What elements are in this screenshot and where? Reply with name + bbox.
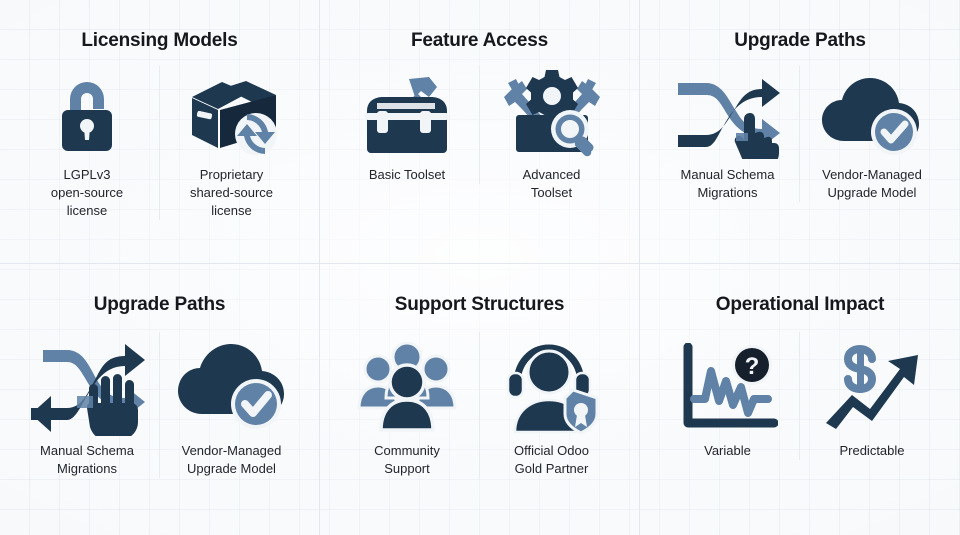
item-proprietary[interactable]: Proprietaryshared-sourcelicense [160,66,304,220]
panel-items: Manual SchemaMigrations Vendor-ManagedUp… [640,66,960,263]
item-lgplv3[interactable]: LGPLv3open-sourcelicense [16,66,160,220]
svg-text:?: ? [744,353,759,380]
panel-licensing-models: Licensing Models LGPLv3open-sourcelicens… [0,0,320,264]
cloud-check-icon [176,332,288,442]
panel-title: Operational Impact [716,294,885,316]
item-caption: CommunitySupport [374,442,440,478]
item-vendor-managed-upgrade[interactable]: Vendor-ManagedUpgrade Model [800,66,944,202]
item-manual-schema-migrations[interactable]: Manual SchemaMigrations [656,66,800,202]
shuffle-arrows-hand-icon [676,66,780,166]
item-caption: Proprietaryshared-sourcelicense [190,166,273,220]
item-basic-toolset[interactable]: Basic Toolset [336,66,480,184]
panel-support-structures: Support Structures [320,264,640,535]
panel-items: LGPLv3open-sourcelicense [0,66,319,263]
item-caption: Predictable [839,442,904,460]
item-advanced-toolset[interactable]: AdvancedToolset [480,66,624,202]
panel-title: Upgrade Paths [734,30,866,52]
item-caption: LGPLv3open-sourcelicense [51,166,123,220]
item-community-support[interactable]: CommunitySupport [336,332,480,478]
dollar-growth-arrow-icon [822,332,922,442]
panel-feature-access: Feature Access [320,0,640,264]
panel-title: Licensing Models [81,30,237,52]
toolbox-hammer-icon [357,66,457,166]
panel-title: Feature Access [411,30,548,52]
item-predictable[interactable]: Predictable [800,332,944,460]
panel-title: Upgrade Paths [94,294,226,316]
volatile-chart-question-icon: ? [678,332,778,442]
item-caption: Vendor-ManagedUpgrade Model [822,166,922,202]
panel-items: CommunitySupport [320,332,639,535]
item-caption: AdvancedToolset [523,166,581,202]
open-padlock-icon [52,66,122,166]
item-caption: Manual SchemaMigrations [40,442,134,478]
item-caption: Basic Toolset [369,166,445,184]
item-variable[interactable]: ? Variable [656,332,800,460]
item-caption: Manual SchemaMigrations [681,166,775,202]
panel-operational-impact: Operational Impact ? Variable [640,264,960,535]
item-manual-schema-migrations[interactable]: Manual SchemaMigrations [16,332,160,478]
panel-items: Basic Toolset [320,66,639,263]
item-caption: Vendor-ManagedUpgrade Model [182,442,282,478]
panel-upgrade-paths-top: Upgrade Paths Manual SchemaMigr [640,0,960,264]
comparison-grid: Licensing Models LGPLv3open-sourcelicens… [0,0,960,535]
item-official-odoo-gold-partner[interactable]: Official OdooGold Partner [480,332,624,478]
panel-upgrade-paths-bottom: Upgrade Paths [0,264,320,535]
headset-agent-shield-icon [505,332,599,442]
package-box-sync-icon [184,66,280,166]
item-caption: Official OdooGold Partner [514,442,589,478]
shuffle-arrows-hand-icon [29,332,145,442]
cloud-check-icon [820,66,924,166]
panel-title: Support Structures [395,294,565,316]
toolbox-gear-wrench-magnifier-icon [502,66,602,166]
panel-items: Manual SchemaMigrations Vendor-ManagedUp… [0,332,319,535]
item-caption: Variable [704,442,751,460]
panel-items: ? Variable Pre [640,332,960,535]
item-vendor-managed-upgrade[interactable]: Vendor-ManagedUpgrade Model [160,332,304,478]
community-people-icon [357,332,457,442]
